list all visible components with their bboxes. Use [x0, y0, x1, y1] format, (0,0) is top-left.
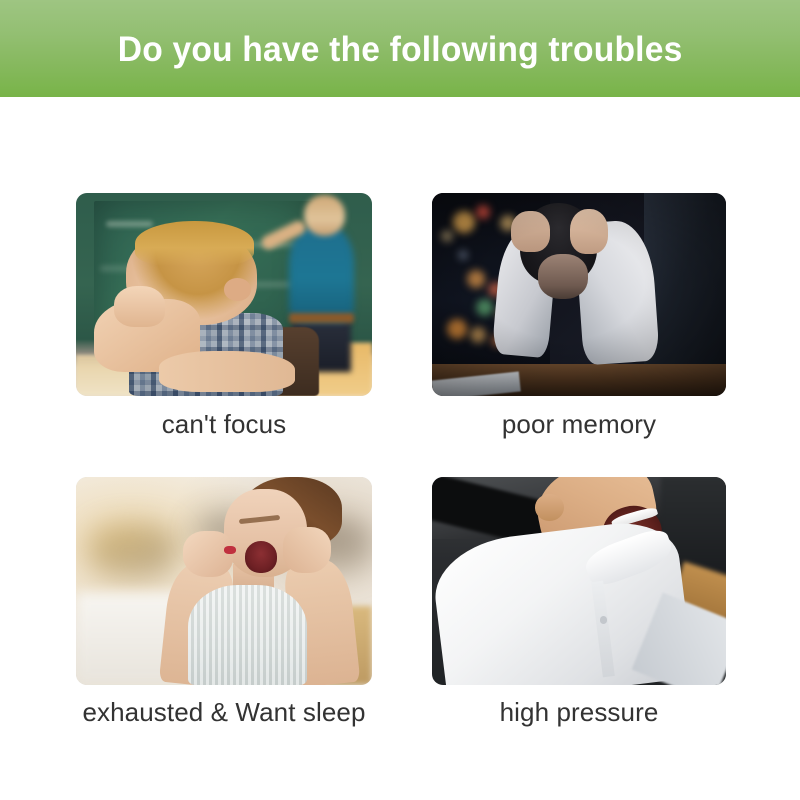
- trouble-card-exhausted[interactable]: exhausted & Want sleep: [76, 477, 372, 728]
- man-shouting-white-shirt-photo: [432, 477, 726, 685]
- card-caption: can't focus: [76, 410, 372, 440]
- woman-yawning-tired-photo: [76, 477, 372, 685]
- trouble-card-poor-memory[interactable]: poor memory: [432, 193, 726, 440]
- boy-distracted-in-classroom-photo: [76, 193, 372, 396]
- card-caption: poor memory: [432, 410, 726, 440]
- header-banner: Do you have the following troubles: [0, 0, 800, 97]
- trouble-card-cant-focus[interactable]: can't focus: [76, 193, 372, 440]
- promo-page: Do you have the following troubles: [0, 0, 800, 800]
- card-caption: high pressure: [432, 698, 726, 728]
- trouble-card-high-pressure[interactable]: high pressure: [432, 477, 726, 728]
- page-title: Do you have the following troubles: [118, 32, 683, 67]
- troubles-grid: can't focus: [0, 97, 800, 800]
- card-caption: exhausted & Want sleep: [76, 698, 372, 728]
- woman-stressed-at-night-desk-photo: [432, 193, 726, 396]
